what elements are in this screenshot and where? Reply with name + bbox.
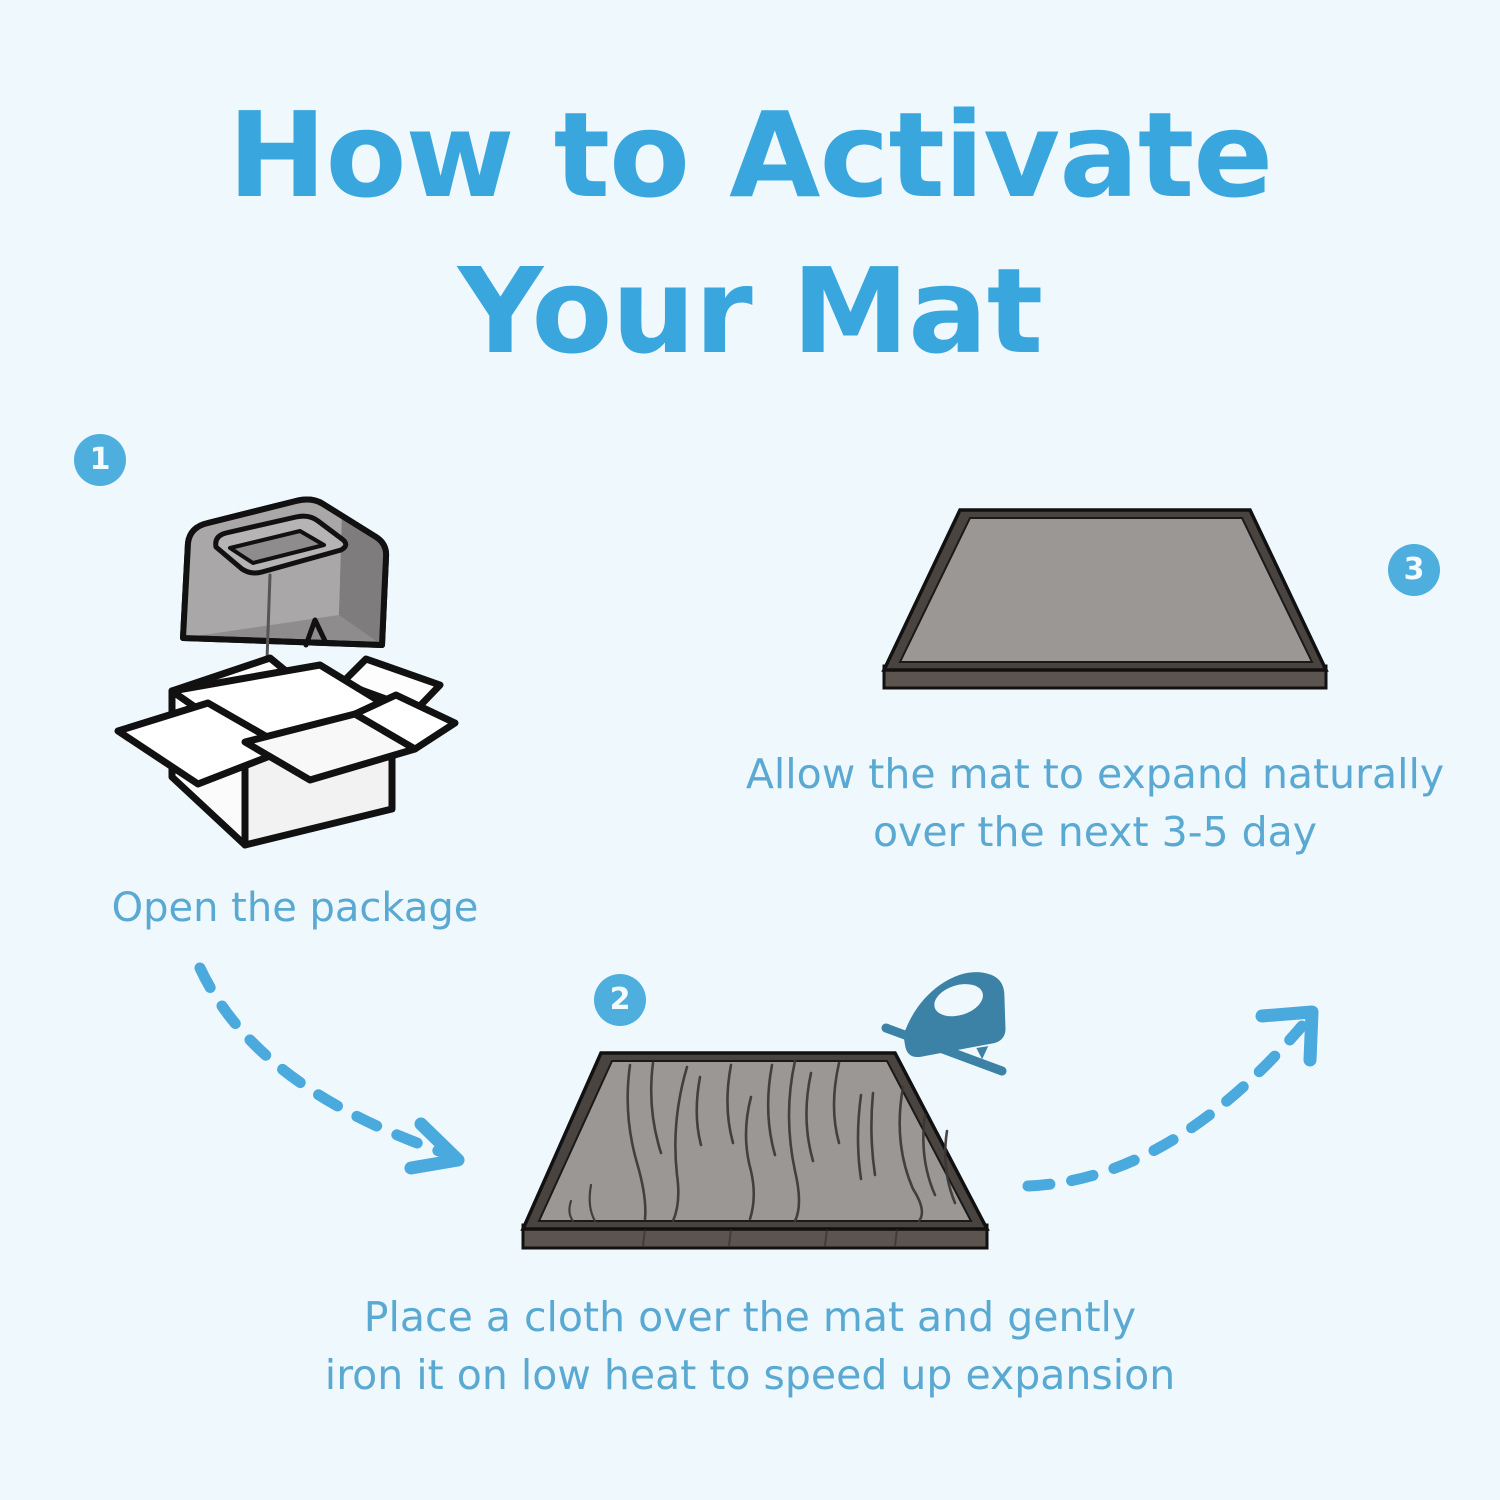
page-title-line-1: How to Activate: [0, 78, 1500, 234]
infographic-canvas: How to Activate Your Mat 1 2 3: [0, 0, 1500, 1500]
page-title: How to Activate Your Mat: [0, 78, 1500, 390]
step-2-caption: Place a cloth over the mat and gently ir…: [230, 1288, 1270, 1404]
step-2-badge: 2: [594, 974, 646, 1026]
dashed-curved-arrow-down-right-icon: [170, 960, 510, 1200]
step-1-badge: 1: [74, 434, 126, 486]
open-box-icon: [110, 495, 490, 865]
step-1-caption: Open the package: [30, 880, 560, 937]
iron-icon: [880, 965, 1030, 1080]
flat-mat-icon: [860, 480, 1360, 710]
dashed-curved-arrow-up-right-icon: [1010, 990, 1350, 1230]
step-3-badge: 3: [1388, 544, 1440, 596]
page-title-line-2: Your Mat: [0, 234, 1500, 390]
step-3-caption: Allow the mat to expand naturally over t…: [690, 745, 1500, 861]
